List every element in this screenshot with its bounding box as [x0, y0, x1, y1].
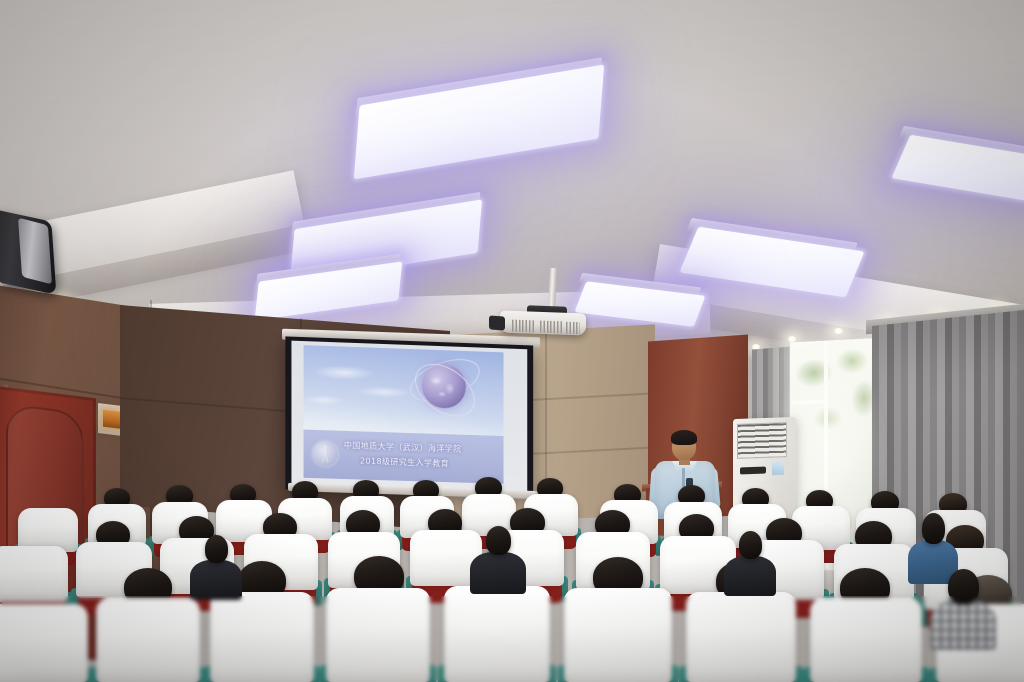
seat-white-cover — [0, 604, 88, 682]
seat-white-cover — [0, 546, 68, 602]
audience-seating — [0, 0, 1024, 682]
auditorium-seat[interactable] — [0, 604, 88, 682]
auditorium-seat[interactable] — [0, 546, 68, 602]
auditorium-seat[interactable] — [210, 592, 314, 682]
auditorium-seat[interactable] — [444, 586, 550, 682]
audience-member-head — [922, 513, 945, 544]
attendee-dark-shirt-right — [724, 556, 776, 596]
attendee-plaid-shirt — [930, 600, 996, 650]
auditorium-seat[interactable] — [96, 598, 200, 682]
auditorium-seat[interactable] — [564, 588, 672, 682]
seat-white-cover — [810, 598, 922, 682]
auditorium-seat[interactable] — [686, 592, 796, 682]
lecture-hall-photo: 中国地质大学（武汉）海洋学院 2018级研究生入学教育 — [0, 0, 1024, 682]
auditorium-seat[interactable] — [810, 598, 922, 682]
attendee-dark-shirt-left — [190, 560, 242, 600]
seat-white-cover — [444, 586, 550, 682]
audience-member-head — [486, 526, 512, 555]
seat-white-cover — [564, 588, 672, 682]
seat-white-cover — [210, 592, 314, 682]
seat-white-cover — [326, 588, 430, 682]
auditorium-seat[interactable] — [326, 588, 430, 682]
audience-member-head — [739, 531, 763, 559]
audience-member-head — [205, 535, 229, 563]
attendee-dark-shirt-center — [470, 552, 526, 594]
seat-white-cover — [686, 592, 796, 682]
audience-member-head — [948, 569, 978, 604]
seat-white-cover — [96, 598, 200, 682]
